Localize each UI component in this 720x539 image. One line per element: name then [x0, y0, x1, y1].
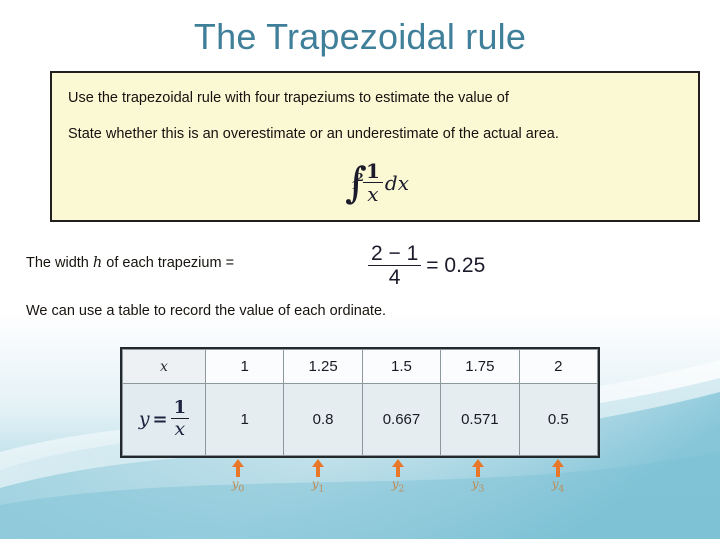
table-row-x-header: x	[123, 350, 206, 384]
question-line-2: State whether this is an overestimate or…	[68, 126, 559, 142]
y-denominator: x	[172, 420, 189, 439]
ordinate-table: x 1 1.25 1.5 1.75 2 y = 1 x	[120, 347, 600, 458]
up-arrow-icon	[227, 458, 249, 478]
x-symbol: x	[160, 359, 168, 375]
table-row-y: y = 1 x 1 0.8 0.667 0.571 0.5	[123, 383, 598, 455]
y-symbol: y	[139, 408, 150, 430]
ordinate-arrow-y4: y4	[547, 458, 569, 494]
table-cell: 1	[206, 350, 284, 384]
page-title: The Trapezoidal rule	[0, 16, 720, 58]
table-cell: 1.75	[441, 350, 519, 384]
ordinate-label: y4	[547, 478, 569, 494]
up-arrow-icon	[307, 458, 329, 478]
table-cell: 0.667	[362, 383, 440, 455]
ordinate-label: y0	[227, 478, 249, 494]
one-over-x-fraction: 1 x	[171, 399, 190, 439]
up-arrow-icon	[467, 458, 489, 478]
width-numerator: 2 − 1	[368, 243, 421, 264]
width-calculation: 2 − 1 4 = 0.25	[368, 243, 485, 288]
table-cell: 0.571	[441, 383, 519, 455]
ordinate-label: y1	[307, 478, 329, 494]
integral-sign: ∫ 2 1	[345, 166, 363, 200]
slide-canvas: The Trapezoidal rule Use the trapezoidal…	[0, 0, 720, 539]
width-statement: The width h of each trapezium =	[26, 255, 234, 271]
table-cell: 2	[519, 350, 597, 384]
up-arrow-icon	[387, 458, 409, 478]
table-row-x: x 1 1.25 1.5 1.75 2	[123, 350, 598, 384]
ordinate-label: y2	[387, 478, 409, 494]
table: x 1 1.25 1.5 1.75 2 y = 1 x	[122, 349, 598, 456]
ordinate-arrow-y0: y0	[227, 458, 249, 494]
ordinate-arrow-y1: y1	[307, 458, 329, 494]
width-symbol-h: h	[93, 255, 102, 271]
integral-lower-limit: 1	[351, 169, 359, 203]
width-prefix: The width	[26, 255, 93, 271]
table-cell: 1.5	[362, 350, 440, 384]
table-intro-text: We can use a table to record the value o…	[26, 303, 386, 319]
y-equals-one-over-x: y = 1 x	[139, 399, 189, 439]
ordinate-label: y3	[467, 478, 489, 494]
ordinate-arrow-group: y0y1y2y3y4	[0, 458, 720, 508]
table-row-y-header: y = 1 x	[123, 383, 206, 455]
ordinate-arrow-y2: y2	[387, 458, 409, 494]
question-line-1: Use the trapezoidal rule with four trape…	[68, 90, 509, 106]
equals-sign: =	[153, 409, 168, 430]
width-suffix: of each trapezium =	[102, 255, 234, 271]
table-cell: 0.5	[519, 383, 597, 455]
table-cell: 1.25	[284, 350, 362, 384]
width-result: = 0.25	[426, 254, 485, 278]
ordinate-arrow-y3: y3	[467, 458, 489, 494]
integrand-denominator: x	[364, 184, 381, 204]
up-arrow-icon	[547, 458, 569, 478]
y-numerator: 1	[171, 399, 190, 417]
differential-dx: dx	[385, 171, 409, 195]
integral-expression: ∫ 2 1 1 x dx	[52, 161, 702, 204]
width-fraction: 2 − 1 4	[368, 243, 421, 288]
table-cell: 0.8	[284, 383, 362, 455]
table-cell: 1	[206, 383, 284, 455]
width-denominator: 4	[386, 267, 404, 288]
question-box: Use the trapezoidal rule with four trape…	[50, 71, 700, 222]
